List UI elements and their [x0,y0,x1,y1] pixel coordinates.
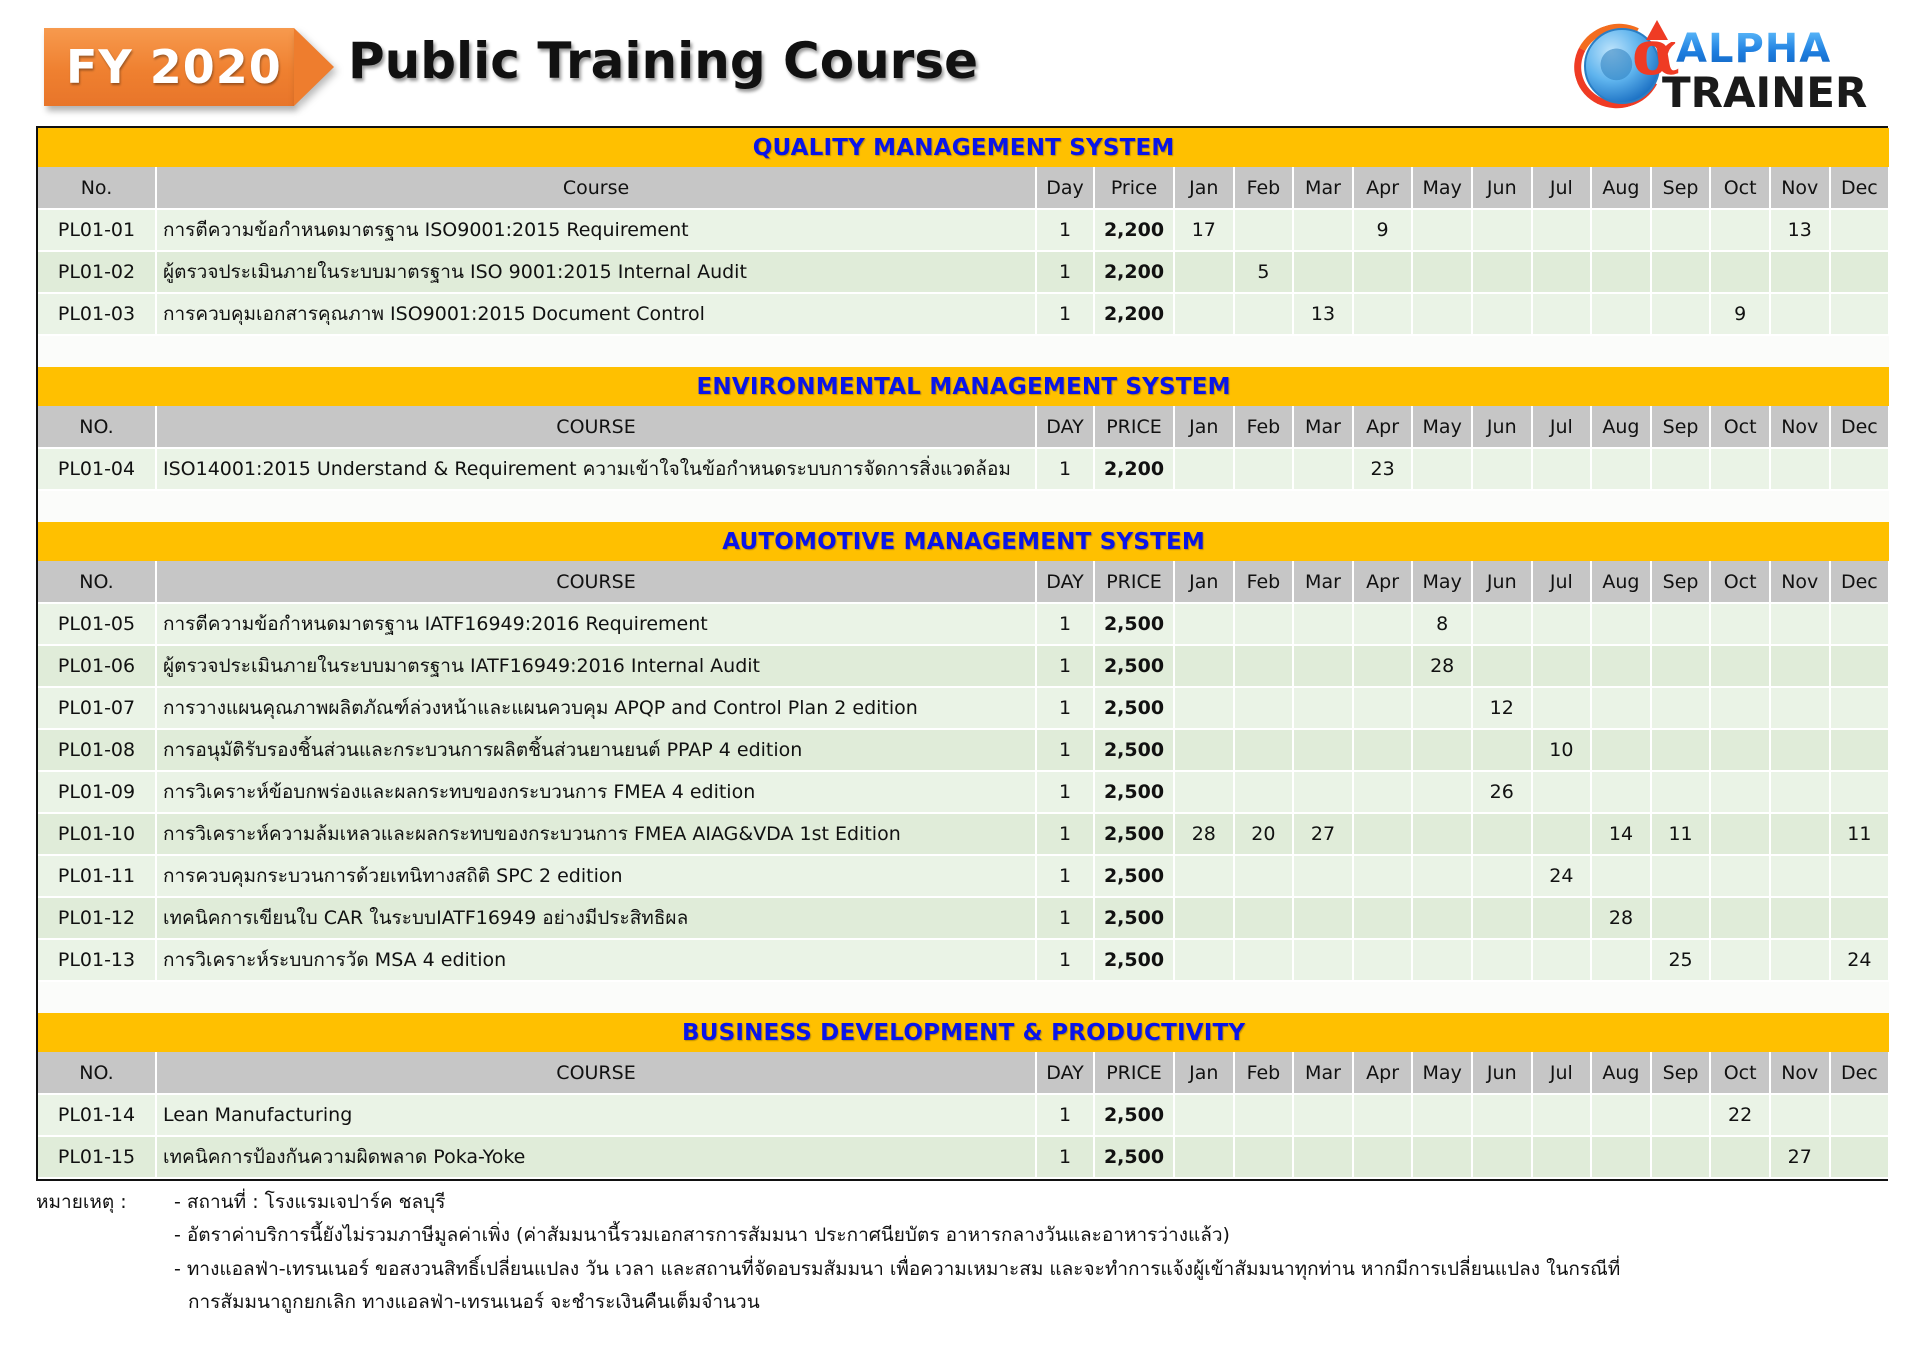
schedule-date-cell-nov [1770,251,1830,293]
course-days-cell: 1 [1036,251,1094,293]
schedule-date-cell-oct [1710,645,1770,687]
fiscal-year-badge: FY 2020 [44,28,294,106]
column-header-month-jul: Jul [1532,1052,1592,1094]
schedule-date-cell-sep [1651,293,1711,335]
section-tail-spacer [38,335,1889,351]
table-row: PL01-06ผู้ตรวจประเมินภายในระบบมาตรฐาน IA… [38,645,1889,687]
column-header-month-feb: Feb [1234,167,1294,209]
table-row: PL01-15เทคนิคการป้องกันความผิดพลาด Poka-… [38,1136,1889,1178]
schedule-date-cell-apr [1353,603,1413,645]
schedule-date-cell-nov [1770,603,1830,645]
schedule-date-cell-mar [1293,687,1353,729]
schedule-date-cell-sep [1651,729,1711,771]
course-price-cell: 2,200 [1094,209,1174,251]
schedule-date-cell-jul [1532,603,1592,645]
schedule-date-cell-jan [1174,645,1234,687]
schedule-date-cell-dec [1830,448,1890,490]
course-name-cell: ผู้ตรวจประเมินภายในระบบมาตรฐาน IATF16949… [156,645,1036,687]
column-header-month-dec: Dec [1830,167,1890,209]
schedule-date-cell-apr [1353,729,1413,771]
schedule-date-cell-mar [1293,771,1353,813]
course-days-cell: 1 [1036,813,1094,855]
table-row: PL01-03การควบคุมเอกสารคุณภาพ ISO9001:201… [38,293,1889,335]
course-price-cell: 2,500 [1094,813,1174,855]
schedule-date-cell-jul [1532,687,1592,729]
schedule-date-cell-may [1412,729,1472,771]
section-spacer [38,506,1889,522]
course-days-cell: 1 [1036,1094,1094,1136]
schedule-date-cell-apr [1353,813,1413,855]
notes-label: หมายเหตุ : [36,1186,127,1219]
column-header-row: No.CourseDayPriceJanFebMarAprMayJunJulAu… [38,167,1889,209]
schedule-date-cell-aug: 28 [1591,897,1651,939]
schedule-date-cell-jul: 24 [1532,855,1592,897]
course-name-cell: การวางแผนคุณภาพผลิตภัณฑ์ล่วงหน้าและแผนคว… [156,687,1036,729]
column-header-no: NO. [38,561,156,603]
column-header-month-mar: Mar [1293,561,1353,603]
column-header-month-jul: Jul [1532,406,1592,448]
course-name-cell: การวิเคราะห์ระบบการวัด MSA 4 edition [156,939,1036,981]
course-price-cell: 2,500 [1094,645,1174,687]
column-header-no: NO. [38,406,156,448]
section-banner: AUTOMOTIVE MANAGEMENT SYSTEM [38,522,1889,561]
schedule-date-cell-feb [1234,1136,1294,1178]
schedule-date-cell-dec [1830,645,1890,687]
schedule-date-cell-sep [1651,448,1711,490]
notes-list: - สถานที่ : โรงแรมเจปาร์ค ชลบุรี- อัตราค… [174,1186,1736,1319]
course-days-cell: 1 [1036,939,1094,981]
column-header-month-may: May [1412,406,1472,448]
course-price-cell: 2,500 [1094,1136,1174,1178]
column-header-month-nov: Nov [1770,1052,1830,1094]
course-days-cell: 1 [1036,1136,1094,1178]
schedule-date-cell-dec: 11 [1830,813,1890,855]
section-spacer [38,351,1889,367]
schedule-date-cell-may [1412,855,1472,897]
course-code-cell: PL01-13 [38,939,156,981]
schedule-date-cell-jul [1532,1094,1592,1136]
section-tail-spacer [38,490,1889,506]
schedule-date-cell-apr [1353,687,1413,729]
spacer-cell [38,351,1889,367]
schedule-date-cell-dec [1830,771,1890,813]
schedule-date-cell-dec [1830,855,1890,897]
schedule-date-cell-sep [1651,897,1711,939]
schedule-date-cell-oct [1710,448,1770,490]
section-title: AUTOMOTIVE MANAGEMENT SYSTEM [722,529,1205,555]
note-line: การสัมมนาถูกยกเลิก ทางแอลฟ่า-เทรนเนอร์ จ… [188,1286,1736,1319]
column-header-month-dec: Dec [1830,561,1890,603]
schedule-date-cell-apr [1353,251,1413,293]
column-header-month-mar: Mar [1293,167,1353,209]
schedule-date-cell-nov [1770,645,1830,687]
schedule-date-cell-jun [1472,645,1532,687]
table-row: PL01-12เทคนิคการเขียนใบ CAR ในระบบIATF16… [38,897,1889,939]
column-header-month-apr: Apr [1353,167,1413,209]
column-header-month-feb: Feb [1234,406,1294,448]
schedule-date-cell-feb: 5 [1234,251,1294,293]
section-banner-cell: AUTOMOTIVE MANAGEMENT SYSTEM [38,522,1889,561]
column-header-course: COURSE [156,406,1036,448]
column-header-row: NO.COURSEDAYPRICEJanFebMarAprMayJunJulAu… [38,406,1889,448]
schedule-date-cell-jan [1174,1094,1234,1136]
course-code-cell: PL01-08 [38,729,156,771]
schedule-date-cell-nov [1770,448,1830,490]
schedule-date-cell-jun [1472,603,1532,645]
column-header-month-mar: Mar [1293,406,1353,448]
schedule-date-cell-apr: 23 [1353,448,1413,490]
column-header-month-feb: Feb [1234,561,1294,603]
course-price-cell: 2,500 [1094,687,1174,729]
column-header-month-jan: Jan [1174,406,1234,448]
course-price-cell: 2,200 [1094,251,1174,293]
schedule-date-cell-dec [1830,897,1890,939]
schedule-date-cell-mar [1293,939,1353,981]
schedule-date-cell-oct [1710,855,1770,897]
schedule-date-cell-nov: 27 [1770,1136,1830,1178]
column-header-month-aug: Aug [1591,406,1651,448]
schedule-date-cell-jun [1472,1094,1532,1136]
course-price-cell: 2,200 [1094,293,1174,335]
schedule-date-cell-jul: 10 [1532,729,1592,771]
schedule-date-cell-apr [1353,293,1413,335]
column-header-day: DAY [1036,561,1094,603]
schedule-date-cell-may [1412,448,1472,490]
schedule-date-cell-aug [1591,1136,1651,1178]
schedule-date-cell-nov [1770,771,1830,813]
schedule-date-cell-apr [1353,771,1413,813]
course-price-cell: 2,500 [1094,1094,1174,1136]
schedule-date-cell-aug [1591,1094,1651,1136]
course-name-cell: ISO14001:2015 Understand & Requirement ค… [156,448,1036,490]
column-header-month-sep: Sep [1651,406,1711,448]
schedule-date-cell-jan [1174,729,1234,771]
table-row: PL01-07การวางแผนคุณภาพผลิตภัณฑ์ล่วงหน้าแ… [38,687,1889,729]
schedule-date-cell-nov [1770,1094,1830,1136]
column-header-month-jun: Jun [1472,1052,1532,1094]
spacer-cell [38,490,1889,506]
schedule-date-cell-oct [1710,251,1770,293]
schedule-date-cell-aug [1591,603,1651,645]
schedule-date-cell-mar [1293,897,1353,939]
column-header-month-sep: Sep [1651,1052,1711,1094]
alpha-trainer-logo: α ALPHA TRAINER [1574,14,1894,120]
schedule-date-cell-sep [1651,687,1711,729]
table-row: PL01-11การควบคุมกระบวนการด้วยเทนิทางสถิต… [38,855,1889,897]
course-code-cell: PL01-02 [38,251,156,293]
schedule-date-cell-mar [1293,729,1353,771]
schedule-date-cell-feb [1234,897,1294,939]
column-header-no: NO. [38,1052,156,1094]
column-header-month-dec: Dec [1830,406,1890,448]
schedule-date-cell-jun: 12 [1472,687,1532,729]
course-days-cell: 1 [1036,687,1094,729]
column-header-month-apr: Apr [1353,406,1413,448]
schedule-date-cell-sep [1651,603,1711,645]
course-name-cell: ผู้ตรวจประเมินภายในระบบมาตรฐาน ISO 9001:… [156,251,1036,293]
schedule-date-cell-aug [1591,855,1651,897]
schedule-date-cell-jan [1174,293,1234,335]
schedule-date-cell-nov [1770,729,1830,771]
schedule-date-cell-feb [1234,855,1294,897]
course-days-cell: 1 [1036,603,1094,645]
column-header-month-mar: Mar [1293,1052,1353,1094]
column-header-month-jul: Jul [1532,561,1592,603]
course-schedule-table: QUALITY MANAGEMENT SYSTEMNo.CourseDayPri… [38,128,1890,1179]
course-days-cell: 1 [1036,209,1094,251]
schedule-date-cell-dec [1830,251,1890,293]
schedule-date-cell-oct [1710,939,1770,981]
course-code-cell: PL01-10 [38,813,156,855]
table-row: PL01-09การวิเคราะห์ข้อบกพร่องและผลกระทบข… [38,771,1889,813]
footer-notes: หมายเหตุ : - สถานที่ : โรงแรมเจปาร์ค ชลบ… [36,1186,1736,1319]
schedule-date-cell-may [1412,1094,1472,1136]
course-days-cell: 1 [1036,855,1094,897]
course-days-cell: 1 [1036,293,1094,335]
schedule-date-cell-may [1412,939,1472,981]
schedule-date-cell-oct: 9 [1710,293,1770,335]
schedule-date-cell-sep [1651,645,1711,687]
spacer-cell [38,506,1889,522]
course-price-cell: 2,500 [1094,855,1174,897]
schedule-date-cell-oct [1710,1136,1770,1178]
course-code-cell: PL01-15 [38,1136,156,1178]
schedule-date-cell-aug [1591,448,1651,490]
section-banner: QUALITY MANAGEMENT SYSTEM [38,128,1889,167]
column-header-course: COURSE [156,1052,1036,1094]
column-header-month-may: May [1412,1052,1472,1094]
section-banner-cell: QUALITY MANAGEMENT SYSTEM [38,128,1889,167]
course-name-cell: Lean Manufacturing [156,1094,1036,1136]
course-price-cell: 2,200 [1094,448,1174,490]
schedule-date-cell-feb [1234,939,1294,981]
schedule-date-cell-jul [1532,897,1592,939]
table-row: PL01-01การตีความข้อกำหนดมาตรฐาน ISO9001:… [38,209,1889,251]
schedule-date-cell-nov [1770,293,1830,335]
schedule-date-cell-oct [1710,813,1770,855]
schedule-date-cell-apr: 9 [1353,209,1413,251]
schedule-date-cell-may: 8 [1412,603,1472,645]
schedule-date-cell-nov [1770,813,1830,855]
schedule-date-cell-jul [1532,448,1592,490]
course-code-cell: PL01-12 [38,897,156,939]
schedule-date-cell-dec [1830,209,1890,251]
schedule-date-cell-jan [1174,448,1234,490]
schedule-date-cell-mar [1293,603,1353,645]
fiscal-year-label: FY 2020 [66,40,282,94]
schedule-date-cell-sep [1651,855,1711,897]
schedule-date-cell-dec [1830,687,1890,729]
column-header-month-nov: Nov [1770,406,1830,448]
column-header-month-oct: Oct [1710,406,1770,448]
table-row: PL01-13การวิเคราะห์ระบบการวัด MSA 4 edit… [38,939,1889,981]
schedule-date-cell-sep [1651,771,1711,813]
course-code-cell: PL01-05 [38,603,156,645]
schedule-date-cell-jan [1174,1136,1234,1178]
schedule-date-cell-oct [1710,771,1770,813]
course-name-cell: เทคนิคการป้องกันความผิดพลาด Poka-Yoke [156,1136,1036,1178]
schedule-date-cell-aug [1591,645,1651,687]
course-code-cell: PL01-01 [38,209,156,251]
course-days-cell: 1 [1036,448,1094,490]
schedule-date-cell-dec [1830,729,1890,771]
course-code-cell: PL01-09 [38,771,156,813]
spacer-cell [38,997,1889,1013]
schedule-date-cell-apr [1353,645,1413,687]
schedule-date-cell-mar [1293,251,1353,293]
column-header-month-sep: Sep [1651,561,1711,603]
schedule-date-cell-aug [1591,771,1651,813]
schedule-date-cell-apr [1353,855,1413,897]
schedule-date-cell-oct [1710,687,1770,729]
schedule-date-cell-feb [1234,687,1294,729]
column-header-month-nov: Nov [1770,561,1830,603]
schedule-date-cell-jun [1472,897,1532,939]
schedule-date-cell-jun [1472,251,1532,293]
column-header-no: No. [38,167,156,209]
course-days-cell: 1 [1036,771,1094,813]
course-code-cell: PL01-06 [38,645,156,687]
schedule-date-cell-jun: 26 [1472,771,1532,813]
schedule-date-cell-sep [1651,1136,1711,1178]
schedule-date-cell-sep: 11 [1651,813,1711,855]
schedule-date-cell-sep [1651,1094,1711,1136]
schedule-date-cell-jan [1174,855,1234,897]
column-header-month-may: May [1412,561,1472,603]
section-spacer [38,997,1889,1013]
course-name-cell: การควบคุมเอกสารคุณภาพ ISO9001:2015 Docum… [156,293,1036,335]
schedule-date-cell-aug [1591,939,1651,981]
column-header-price: Price [1094,167,1174,209]
schedule-date-cell-jun [1472,939,1532,981]
column-header-month-jun: Jun [1472,561,1532,603]
schedule-date-cell-apr [1353,1136,1413,1178]
column-header-month-aug: Aug [1591,167,1651,209]
column-header-month-jun: Jun [1472,167,1532,209]
schedule-date-cell-dec [1830,1094,1890,1136]
course-name-cell: การอนุมัติรับรองชิ้นส่วนและกระบวนการผลิต… [156,729,1036,771]
schedule-date-cell-jul [1532,645,1592,687]
badge-arrow-icon [294,28,334,106]
table-row: PL01-10การวิเคราะห์ความล้มเหลวและผลกระทบ… [38,813,1889,855]
schedule-date-cell-nov [1770,897,1830,939]
schedule-date-cell-feb [1234,209,1294,251]
schedule-date-cell-jun [1472,855,1532,897]
page-header: FY 2020 Public Training Course α ALPHA T… [0,0,1920,140]
course-price-cell: 2,500 [1094,603,1174,645]
course-price-cell: 2,500 [1094,897,1174,939]
section-title: BUSINESS DEVELOPMENT & PRODUCTIVITY [682,1020,1245,1046]
schedule-date-cell-aug [1591,209,1651,251]
table-row: PL01-04ISO14001:2015 Understand & Requir… [38,448,1889,490]
column-header-month-nov: Nov [1770,167,1830,209]
schedule-date-cell-oct [1710,897,1770,939]
column-header-month-oct: Oct [1710,561,1770,603]
schedule-date-cell-may [1412,209,1472,251]
course-code-cell: PL01-11 [38,855,156,897]
schedule-date-cell-feb [1234,771,1294,813]
page-title: Public Training Course [348,32,978,90]
schedule-date-cell-jun [1472,1136,1532,1178]
column-header-course: COURSE [156,561,1036,603]
schedule-date-cell-sep [1651,209,1711,251]
logo-alpha-text: ALPHA [1676,26,1831,72]
column-header-day: Day [1036,167,1094,209]
schedule-date-cell-dec: 24 [1830,939,1890,981]
schedule-date-cell-jul [1532,813,1592,855]
section-title: ENVIRONMENTAL MANAGEMENT SYSTEM [697,374,1231,400]
course-price-cell: 2,500 [1094,729,1174,771]
schedule-date-cell-jul [1532,209,1592,251]
schedule-date-cell-jan [1174,603,1234,645]
schedule-date-cell-aug: 14 [1591,813,1651,855]
schedule-date-cell-jan [1174,687,1234,729]
schedule-date-cell-jan [1174,771,1234,813]
column-header-price: PRICE [1094,561,1174,603]
schedule-date-cell-nov [1770,939,1830,981]
schedule-date-cell-sep [1651,251,1711,293]
column-header-month-apr: Apr [1353,561,1413,603]
schedule-date-cell-mar [1293,1094,1353,1136]
section-banner: ENVIRONMENTAL MANAGEMENT SYSTEM [38,367,1889,406]
column-header-row: NO.COURSEDAYPRICEJanFebMarAprMayJunJulAu… [38,1052,1889,1094]
schedule-date-cell-mar: 13 [1293,293,1353,335]
spacer-cell [38,335,1889,351]
schedule-date-cell-jul [1532,293,1592,335]
course-price-cell: 2,500 [1094,939,1174,981]
column-header-month-sep: Sep [1651,167,1711,209]
spacer-cell [38,981,1889,997]
schedule-date-cell-feb [1234,645,1294,687]
column-header-month-jul: Jul [1532,167,1592,209]
column-header-month-oct: Oct [1710,1052,1770,1094]
course-name-cell: เทคนิคการเขียนใบ CAR ในระบบIATF16949 อย่… [156,897,1036,939]
schedule-date-cell-jun [1472,209,1532,251]
schedule-date-cell-oct [1710,729,1770,771]
column-header-day: DAY [1036,1052,1094,1094]
column-header-row: NO.COURSEDAYPRICEJanFebMarAprMayJunJulAu… [38,561,1889,603]
schedule-date-cell-may [1412,813,1472,855]
course-name-cell: การตีความข้อกำหนดมาตรฐาน ISO9001:2015 Re… [156,209,1036,251]
course-name-cell: การวิเคราะห์ข้อบกพร่องและผลกระทบของกระบว… [156,771,1036,813]
course-name-cell: การตีความข้อกำหนดมาตรฐาน IATF16949:2016 … [156,603,1036,645]
schedule-date-cell-jan [1174,251,1234,293]
course-schedule-table-container: QUALITY MANAGEMENT SYSTEMNo.CourseDayPri… [36,126,1888,1181]
course-days-cell: 1 [1036,645,1094,687]
table-row: PL01-08การอนุมัติรับรองชิ้นส่วนและกระบวน… [38,729,1889,771]
column-header-month-jan: Jan [1174,167,1234,209]
schedule-date-cell-jun [1472,729,1532,771]
schedule-date-cell-jul [1532,939,1592,981]
schedule-date-cell-dec [1830,1136,1890,1178]
section-banner-cell: ENVIRONMENTAL MANAGEMENT SYSTEM [38,367,1889,406]
training-course-schedule-page: FY 2020 Public Training Course α ALPHA T… [0,0,1920,1348]
column-header-month-jun: Jun [1472,406,1532,448]
schedule-date-cell-oct [1710,209,1770,251]
schedule-date-cell-may [1412,687,1472,729]
column-header-course: Course [156,167,1036,209]
section-banner: BUSINESS DEVELOPMENT & PRODUCTIVITY [38,1013,1889,1052]
column-header-month-dec: Dec [1830,1052,1890,1094]
section-tail-spacer [38,981,1889,997]
note-line: - อัตราค่าบริการนี้ยังไม่รวมภาษีมูลค่าเพ… [174,1219,1736,1252]
schedule-date-cell-dec [1830,603,1890,645]
schedule-date-cell-aug [1591,687,1651,729]
schedule-date-cell-nov: 13 [1770,209,1830,251]
course-code-cell: PL01-14 [38,1094,156,1136]
schedule-date-cell-apr [1353,939,1413,981]
schedule-date-cell-jan: 28 [1174,813,1234,855]
